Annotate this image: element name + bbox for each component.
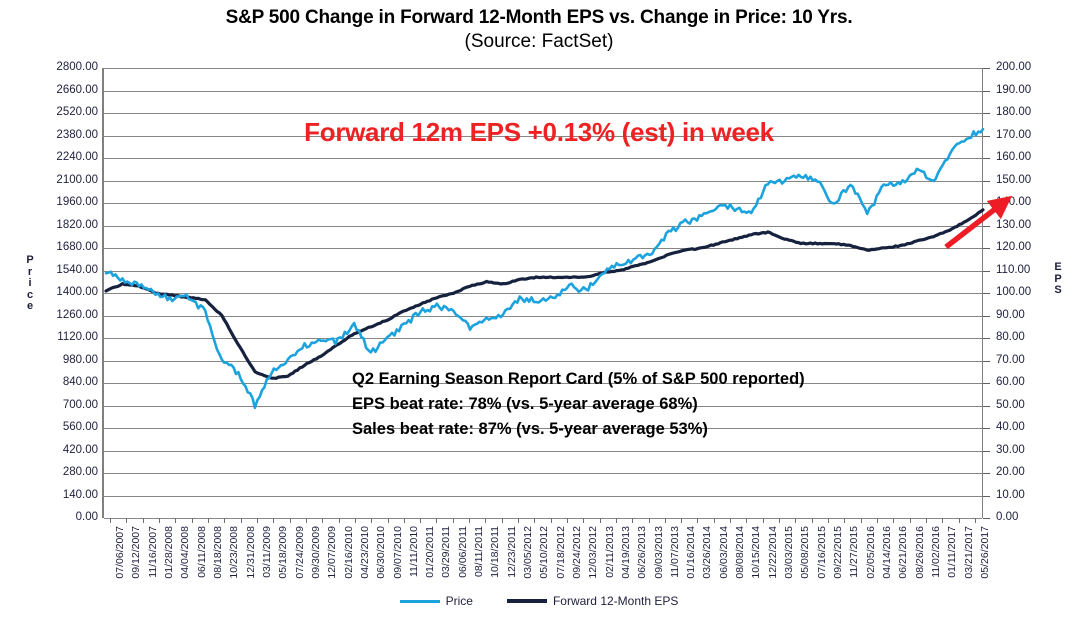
x-axis-tick-mark bbox=[388, 518, 389, 523]
x-axis-tick-label: 12/07/2009 bbox=[327, 526, 337, 579]
x-axis-tick-label: 02/11/2013 bbox=[605, 526, 615, 578]
x-axis-tick-label: 09/24/2012 bbox=[572, 526, 582, 579]
y-axis-right: 200.00190.00180.00170.00160.00150.00140.… bbox=[996, 0, 1078, 621]
y-axis-right-tick-label: 80.00 bbox=[996, 332, 1025, 343]
x-axis-tick-mark bbox=[681, 518, 682, 523]
x-axis-tick-mark bbox=[404, 518, 405, 523]
x-axis-tick-mark bbox=[534, 518, 535, 523]
y-axis-right-tick-label: 110.00 bbox=[996, 265, 1030, 276]
x-axis-tick-mark bbox=[600, 518, 601, 523]
x-axis-tick-label: 02/16/2010 bbox=[344, 526, 354, 579]
x-axis-tick-mark bbox=[551, 518, 552, 523]
x-axis-tick-label: 09/12/2007 bbox=[131, 526, 141, 579]
x-axis-tick-mark bbox=[339, 518, 340, 523]
x-axis-tick-label: 07/18/2012 bbox=[556, 526, 566, 579]
x-axis-tick-mark bbox=[665, 518, 666, 523]
x-axis-tick-mark bbox=[975, 518, 976, 523]
y-axis-right-tick-label: 70.00 bbox=[996, 355, 1025, 366]
x-axis-tick-label: 08/18/2008 bbox=[213, 526, 223, 579]
x-axis-tick-mark bbox=[812, 518, 813, 523]
x-axis-tick-mark bbox=[567, 518, 568, 523]
x-axis-tick-label: 06/03/2014 bbox=[719, 526, 729, 579]
x-axis-tick-mark bbox=[583, 518, 584, 523]
y-axis-left-title: Price bbox=[24, 255, 36, 313]
x-axis-tick-label: 12/31/2008 bbox=[246, 526, 256, 579]
y-axis-right-tick-label: 160.00 bbox=[996, 152, 1031, 163]
chart-legend: PriceForward 12-Month EPS bbox=[0, 594, 1078, 608]
annotation-headline: Forward 12m EPS +0.13% (est) in week bbox=[0, 117, 1078, 148]
y-axis-right-tick-mark bbox=[983, 451, 990, 452]
annotation-report-card: Q2 Earning Season Report Card (5% of S&P… bbox=[352, 367, 805, 442]
title-block: S&P 500 Change in Forward 12-Month EPS v… bbox=[0, 6, 1078, 54]
x-axis-tick-label: 06/06/2011 bbox=[458, 526, 468, 578]
legend-label: Price bbox=[446, 594, 473, 608]
y-axis-left-tick-label: 140.00 bbox=[6, 490, 98, 501]
x-axis-tick-mark bbox=[828, 518, 829, 523]
x-axis-tick-mark bbox=[208, 518, 209, 523]
legend-swatch bbox=[400, 600, 440, 603]
y-axis-left-tick-label: 2100.00 bbox=[6, 175, 98, 186]
x-axis-tick-mark bbox=[795, 518, 796, 523]
y-axis-left-tick-label: 1260.00 bbox=[6, 310, 98, 321]
x-axis-tick-mark bbox=[306, 518, 307, 523]
y-axis-right-tick-mark bbox=[983, 406, 990, 407]
y-axis-right-tick-mark bbox=[983, 136, 990, 137]
y-axis-left-tick-label: 1400.00 bbox=[6, 287, 98, 298]
x-axis-tick-mark bbox=[322, 518, 323, 523]
x-axis-tick-mark bbox=[730, 518, 731, 523]
x-axis-tick-label: 10/23/2008 bbox=[229, 526, 239, 579]
x-axis-tick-mark bbox=[746, 518, 747, 523]
x-axis-tick-mark bbox=[763, 518, 764, 523]
x-axis-tick-mark bbox=[861, 518, 862, 523]
x-axis-tick-label: 06/21/2016 bbox=[898, 526, 908, 579]
y-axis-left-tick-label: 1960.00 bbox=[6, 197, 98, 208]
y-axis-right-tick-mark bbox=[983, 248, 990, 249]
x-axis-tick-label: 11/16/2007 bbox=[148, 526, 158, 578]
x-axis-tick-label: 06/26/2013 bbox=[637, 526, 647, 579]
y-axis-left-tick-label: 2660.00 bbox=[6, 85, 98, 96]
y-axis-left-title-letter: e bbox=[24, 301, 36, 313]
y-axis-right-tick-mark bbox=[983, 271, 990, 272]
x-axis-tick-mark bbox=[926, 518, 927, 523]
x-axis-tick-mark bbox=[241, 518, 242, 523]
y-axis-right-tick-mark bbox=[983, 91, 990, 92]
x-axis-tick-label: 02/05/2016 bbox=[866, 526, 876, 579]
y-axis-left-tick-label: 1120.00 bbox=[6, 332, 98, 343]
x-axis-tick-mark bbox=[616, 518, 617, 523]
x-axis-tick-label: 03/11/2009 bbox=[262, 526, 272, 578]
y-axis-right-tick-mark bbox=[983, 518, 990, 519]
x-axis-tick-label: 12/03/2012 bbox=[588, 526, 598, 579]
x-axis-tick-mark bbox=[518, 518, 519, 523]
y-axis-right-title-letter: S bbox=[1052, 285, 1064, 297]
x-axis-tick-label: 10/15/2014 bbox=[751, 526, 761, 579]
x-axis-tick-mark bbox=[453, 518, 454, 523]
legend-item-price[interactable]: Price bbox=[400, 594, 473, 608]
x-axis-tick-mark bbox=[502, 518, 503, 523]
x-axis-tick-mark bbox=[469, 518, 470, 523]
x-axis-tick-mark bbox=[257, 518, 258, 523]
x-axis-tick-mark bbox=[893, 518, 894, 523]
x-axis-tick-mark bbox=[714, 518, 715, 523]
x-axis-tick-mark bbox=[224, 518, 225, 523]
y-axis-right-tick-mark bbox=[983, 316, 990, 317]
x-axis-tick-label: 01/11/2017 bbox=[947, 526, 957, 578]
x-axis-tick-mark bbox=[355, 518, 356, 523]
y-axis-right-tick-mark bbox=[983, 158, 990, 159]
y-axis-right-tick-label: 20.00 bbox=[996, 467, 1025, 478]
x-axis-tick-label: 04/19/2013 bbox=[621, 526, 631, 579]
x-axis-tick-label: 12/23/2011 bbox=[507, 526, 517, 578]
x-axis-tick-label: 06/11/2008 bbox=[197, 526, 207, 578]
y-axis-right-tick-label: 90.00 bbox=[996, 310, 1025, 321]
y-axis-right-tick-label: 190.00 bbox=[996, 85, 1031, 96]
x-axis-tick-mark bbox=[649, 518, 650, 523]
x-axis-tick-label: 01/16/2014 bbox=[686, 526, 696, 579]
y-axis-right-tick-mark bbox=[983, 383, 990, 384]
legend-label: Forward 12-Month EPS bbox=[553, 594, 678, 608]
y-axis-right-tick-mark bbox=[983, 293, 990, 294]
x-axis-tick-label: 05/18/2009 bbox=[278, 526, 288, 579]
y-axis-right-tick-mark bbox=[983, 338, 990, 339]
y-axis-right-tick-mark bbox=[983, 68, 990, 69]
y-axis-right-tick-label: 100.00 bbox=[996, 287, 1031, 298]
x-axis-tick-label: 11/02/2016 bbox=[931, 526, 941, 578]
y-axis-right-tick-label: 150.00 bbox=[996, 175, 1031, 186]
x-axis-tick-label: 09/07/2010 bbox=[393, 526, 403, 579]
x-axis-tick-mark bbox=[159, 518, 160, 523]
x-axis-tick-mark bbox=[192, 518, 193, 523]
y-axis-right-title-letter: E bbox=[1052, 262, 1064, 274]
x-axis-tick-label: 09/03/2013 bbox=[654, 526, 664, 579]
x-axis-tick-label: 01/28/2008 bbox=[164, 526, 174, 579]
y-axis-left-tick-label: 2800.00 bbox=[6, 62, 98, 73]
x-axis-tick-label: 07/06/2007 bbox=[115, 526, 125, 579]
y-axis-right-tick-mark bbox=[983, 181, 990, 182]
x-axis-tick-label: 11/07/2013 bbox=[670, 526, 680, 578]
series-line-price bbox=[106, 129, 983, 408]
y-axis-left-tick-label: 420.00 bbox=[6, 445, 98, 456]
x-axis-tick-label: 01/20/2011 bbox=[425, 526, 435, 578]
x-axis-tick-mark bbox=[942, 518, 943, 523]
x-axis-tick-mark bbox=[420, 518, 421, 523]
y-axis-left-tick-label: 2240.00 bbox=[6, 152, 98, 163]
x-axis-tick-label: 09/22/2015 bbox=[833, 526, 843, 579]
y-axis-right-tick-label: 50.00 bbox=[996, 400, 1025, 411]
report-card-line-2: EPS beat rate: 78% (vs. 5-year average 6… bbox=[352, 392, 805, 417]
x-axis-tick-mark bbox=[110, 518, 111, 523]
y-axis-left-tick-label: 1540.00 bbox=[6, 265, 98, 276]
y-axis-right-tick-mark bbox=[983, 226, 990, 227]
page-title: S&P 500 Change in Forward 12-Month EPS v… bbox=[0, 6, 1078, 30]
y-axis-right-tick-mark bbox=[983, 361, 990, 362]
x-axis-tick-mark bbox=[485, 518, 486, 523]
chart-page: S&P 500 Change in Forward 12-Month EPS v… bbox=[0, 0, 1078, 621]
y-axis-right-tick-label: 60.00 bbox=[996, 377, 1025, 388]
chart-subtitle: (Source: FactSet) bbox=[0, 30, 1078, 54]
x-axis-tick-mark bbox=[632, 518, 633, 523]
x-axis-tick-label: 06/30/2010 bbox=[376, 526, 386, 579]
x-axis-tick-label: 04/23/2010 bbox=[360, 526, 370, 579]
x-axis-tick-label: 12/22/2014 bbox=[768, 526, 778, 579]
y-axis-right-tick-label: 10.00 bbox=[996, 490, 1025, 501]
x-axis-tick-mark bbox=[175, 518, 176, 523]
x-axis-tick-label: 08/26/2016 bbox=[915, 526, 925, 579]
y-axis-left-title-letter: P bbox=[24, 255, 36, 267]
x-axis-tick-label: 09/30/2009 bbox=[311, 526, 321, 579]
y-axis-right-tick-mark bbox=[983, 473, 990, 474]
y-axis-right-tick-mark bbox=[983, 203, 990, 204]
legend-item-forward-12-month-eps[interactable]: Forward 12-Month EPS bbox=[507, 594, 678, 608]
series-line-forward-12-month-eps bbox=[106, 210, 983, 378]
y-axis-right-tick-label: 30.00 bbox=[996, 445, 1025, 456]
x-axis-tick-label: 11/27/2015 bbox=[849, 526, 859, 578]
y-axis-right-tick-label: 0.00 bbox=[996, 512, 1018, 523]
x-axis-tick-mark bbox=[273, 518, 274, 523]
y-axis-left-tick-label: 1680.00 bbox=[6, 242, 98, 253]
x-axis-tick-label: 10/18/2011 bbox=[490, 526, 500, 578]
x-axis-tick-label: 05/10/2012 bbox=[539, 526, 549, 579]
x-axis: 07/06/200709/12/200711/16/200701/28/2008… bbox=[102, 518, 983, 598]
x-axis-tick-label: 08/08/2014 bbox=[735, 526, 745, 579]
x-axis-tick-label: 03/21/2017 bbox=[964, 526, 974, 579]
y-axis-left: 2800.002660.002520.002380.002240.002100.… bbox=[0, 0, 98, 621]
y-axis-right-tick-label: 40.00 bbox=[996, 422, 1025, 433]
x-axis-tick-mark bbox=[959, 518, 960, 523]
x-axis-tick-mark bbox=[126, 518, 127, 523]
y-axis-left-tick-label: 700.00 bbox=[6, 400, 98, 411]
x-axis-tick-mark bbox=[910, 518, 911, 523]
y-axis-right-title: EPS bbox=[1052, 262, 1064, 297]
x-axis-tick-mark bbox=[697, 518, 698, 523]
x-axis-tick-label: 03/05/2012 bbox=[523, 526, 533, 579]
y-axis-right-tick-mark bbox=[983, 428, 990, 429]
x-axis-tick-label: 08/11/2011 bbox=[474, 526, 484, 577]
y-axis-left-title-letter: i bbox=[24, 278, 36, 290]
x-axis-tick-mark bbox=[290, 518, 291, 523]
y-axis-right-tick-mark bbox=[983, 496, 990, 497]
y-axis-right-tick-label: 200.00 bbox=[996, 62, 1031, 73]
x-axis-tick-label: 03/26/2014 bbox=[702, 526, 712, 579]
x-axis-tick-mark bbox=[436, 518, 437, 523]
red-arrow-icon bbox=[930, 185, 1020, 260]
y-axis-left-tick-label: 280.00 bbox=[6, 467, 98, 478]
x-axis-tick-label: 04/14/2016 bbox=[882, 526, 892, 579]
x-axis-tick-label: 03/29/2011 bbox=[441, 526, 451, 578]
y-axis-right-tick-mark bbox=[983, 113, 990, 114]
y-axis-left-tick-label: 560.00 bbox=[6, 422, 98, 433]
x-axis-tick-label: 07/16/2015 bbox=[817, 526, 827, 579]
x-axis-tick-label: 03/03/2015 bbox=[784, 526, 794, 579]
x-axis-tick-label: 07/24/2009 bbox=[295, 526, 305, 579]
x-axis-tick-label: 05/08/2015 bbox=[800, 526, 810, 579]
y-axis-left-tick-label: 0.00 bbox=[6, 512, 98, 523]
x-axis-tick-mark bbox=[779, 518, 780, 523]
y-axis-left-tick-label: 980.00 bbox=[6, 355, 98, 366]
legend-swatch bbox=[507, 599, 547, 603]
y-axis-left-tick-label: 840.00 bbox=[6, 377, 98, 388]
x-axis-tick-label: 05/26/2017 bbox=[980, 526, 990, 579]
x-axis-tick-mark bbox=[371, 518, 372, 523]
x-axis-tick-label: 04/04/2008 bbox=[180, 526, 190, 579]
x-axis-tick-mark bbox=[143, 518, 144, 523]
report-card-line-3: Sales beat rate: 87% (vs. 5-year average… bbox=[352, 417, 805, 442]
x-axis-tick-mark bbox=[844, 518, 845, 523]
y-axis-left-tick-label: 1820.00 bbox=[6, 220, 98, 231]
x-axis-tick-mark bbox=[877, 518, 878, 523]
report-card-line-1: Q2 Earning Season Report Card (5% of S&P… bbox=[352, 367, 805, 392]
x-axis-tick-label: 11/11/2010 bbox=[409, 526, 419, 577]
